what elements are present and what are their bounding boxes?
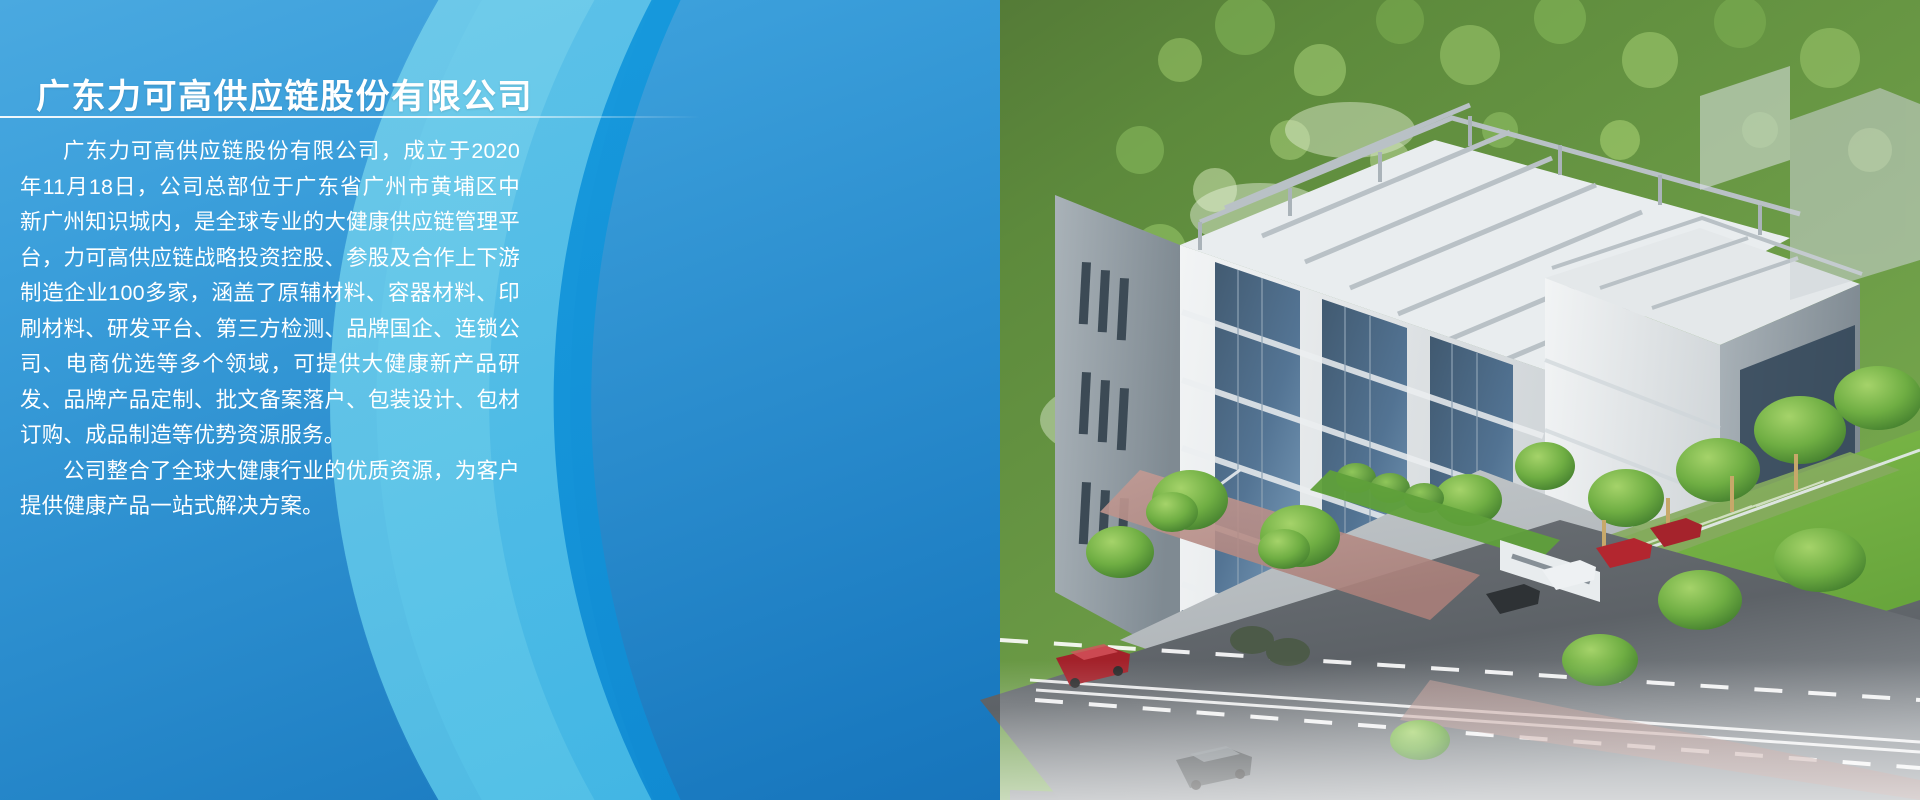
title-divider: [0, 116, 700, 118]
description-paragraph-2: 公司整合了全球大健康行业的优质资源，为客户提供健康产品一站式解决方案。: [20, 454, 520, 525]
banner-stage: 广东力可高供应链股份有限公司 广东力可高供应链股份有限公司，成立于2020年11…: [0, 0, 1920, 800]
description-paragraph-1: 广东力可高供应链股份有限公司，成立于2020年11月18日，公司总部位于广东省广…: [20, 134, 520, 454]
company-description: 广东力可高供应链股份有限公司，成立于2020年11月18日，公司总部位于广东省广…: [20, 134, 520, 525]
intro-text-column: 广东力可高供应链股份有限公司 广东力可高供应链股份有限公司，成立于2020年11…: [0, 0, 560, 800]
page-title: 广东力可高供应链股份有限公司: [36, 75, 533, 119]
bottom-haze: [1000, 660, 1920, 800]
building-side-face: [1055, 195, 1180, 660]
